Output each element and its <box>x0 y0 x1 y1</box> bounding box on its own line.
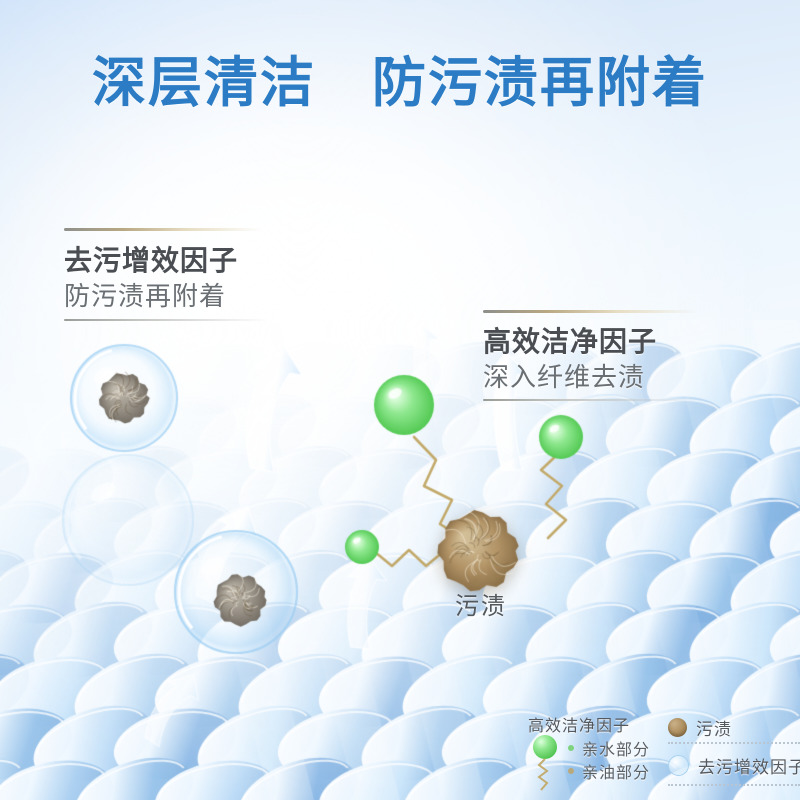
legend-part-rows: 亲水部分 亲油部分 <box>566 736 650 782</box>
lipophilic-dot-icon <box>568 768 574 774</box>
stain-swatch-icon <box>668 718 687 737</box>
legend: 高效洁净因子 亲水部分 <box>528 712 796 794</box>
callout-left-rule-top <box>64 228 262 231</box>
callout-left-rule-bottom <box>64 319 269 321</box>
legend-label-booster: 去污增效因子 <box>698 753 800 778</box>
callout-left-heading: 去污增效因子 <box>64 243 324 279</box>
callout-right: 高效洁净因子 深入纤维去渍 <box>483 310 758 401</box>
stain-caption: 污渍 <box>455 586 507 621</box>
legend-separator-top <box>668 742 800 744</box>
legend-label-lipophilic: 亲油部分 <box>582 759 650 783</box>
title-part-1: 深层清洁 <box>92 53 316 113</box>
legend-label-hydrophilic: 亲水部分 <box>582 736 650 760</box>
legend-column-left: 高效洁净因子 亲水部分 <box>528 712 656 736</box>
legend-title-cleaning-factor: 高效洁净因子 <box>528 712 656 736</box>
legend-column-right: 污渍 去污增效因子 <box>668 712 800 780</box>
poster-canvas: 深层清洁 防污渍再附着 去污增效因子 防污渍再附着 高效洁净因子 深入纤维去渍 … <box>0 0 800 800</box>
page-title: 深层清洁 防污渍再附着 <box>0 52 800 114</box>
callout-right-rule-bottom <box>483 399 695 401</box>
booster-bubble-swatch-icon <box>668 755 689 776</box>
hydrophilic-dot-icon <box>568 745 574 751</box>
legend-row-booster: 去污增效因子 <box>668 750 800 780</box>
legend-separator-bottom <box>668 784 800 786</box>
callout-right-rule-top <box>483 310 698 313</box>
legend-row-hydrophilic: 亲水部分 <box>566 736 650 759</box>
callout-left: 去污增效因子 防污渍再附着 <box>64 228 324 321</box>
callout-right-heading: 高效洁净因子 <box>483 324 758 360</box>
callout-right-subheading: 深入纤维去渍 <box>483 360 758 394</box>
legend-row-lipophilic: 亲油部分 <box>566 759 650 782</box>
legend-row-stain: 污渍 <box>668 712 800 742</box>
molecule-icon <box>530 734 564 792</box>
legend-label-stain: 污渍 <box>696 715 732 740</box>
title-part-2: 防污渍再附着 <box>372 53 708 113</box>
callout-left-subheading: 防污渍再附着 <box>64 279 324 313</box>
